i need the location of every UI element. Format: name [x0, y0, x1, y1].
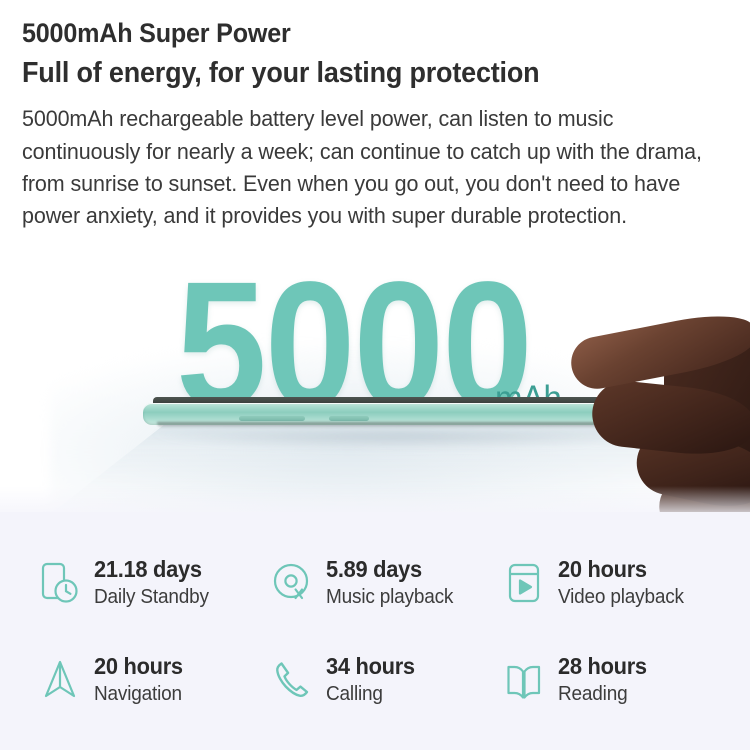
feature-item-daily-standby: 21.18 days Daily Standby [38, 534, 270, 631]
copy-block: 5000mAh Super Power Full of energy, for … [22, 16, 722, 232]
feature-value: 21.18 days [94, 556, 209, 583]
feature-item-navigation: 20 hours Navigation [38, 631, 270, 728]
feature-grid-section: 21.18 days Daily Standby 5.89 days Mus [0, 512, 750, 750]
feature-grid: 21.18 days Daily Standby 5.89 days Mus [38, 534, 738, 728]
feature-text: 34 hours Calling [326, 653, 419, 707]
feature-value: 20 hours [558, 556, 684, 583]
feature-label: Daily Standby [94, 585, 209, 609]
feature-label: Calling [326, 682, 415, 706]
feature-label: Music playback [326, 585, 453, 609]
feature-value: 34 hours [326, 653, 415, 680]
phone-call-icon [270, 657, 314, 703]
feature-label: Reading [558, 682, 647, 706]
page-title: 5000mAh Super Power [22, 16, 673, 52]
feature-text: 20 hours Video playback [558, 556, 690, 610]
feature-value: 20 hours [94, 653, 183, 680]
phone-device [143, 397, 648, 437]
navigation-arrow-icon [38, 657, 82, 703]
feature-item-music-playback: 5.89 days Music playback [270, 534, 502, 631]
phone-clock-icon [38, 560, 82, 606]
feature-label: Video playback [558, 585, 684, 609]
vinyl-disc-icon [270, 560, 314, 606]
section-fade [0, 486, 750, 520]
feature-item-reading: 28 hours Reading [502, 631, 734, 728]
feature-item-calling: 34 hours Calling [270, 631, 502, 728]
open-book-icon [502, 657, 546, 703]
body-paragraph: 5000mAh rechargeable battery level power… [22, 103, 713, 232]
feature-value: 5.89 days [326, 556, 453, 583]
feature-value: 28 hours [558, 653, 647, 680]
volume-button [239, 416, 305, 421]
feature-label: Navigation [94, 682, 183, 706]
phone-underside [157, 422, 631, 428]
feature-text: 21.18 days Daily Standby [94, 556, 215, 610]
product-feature-page: 5000mAh Super Power Full of energy, for … [0, 0, 750, 750]
power-button [329, 416, 369, 421]
video-player-icon [502, 560, 546, 606]
page-subtitle: Full of energy, for your lasting protect… [22, 54, 673, 93]
feature-item-video-playback: 20 hours Video playback [502, 534, 734, 631]
feature-text: 20 hours Navigation [94, 653, 187, 707]
feature-text: 28 hours Reading [558, 653, 651, 707]
feature-text: 5.89 days Music playback [326, 556, 460, 610]
